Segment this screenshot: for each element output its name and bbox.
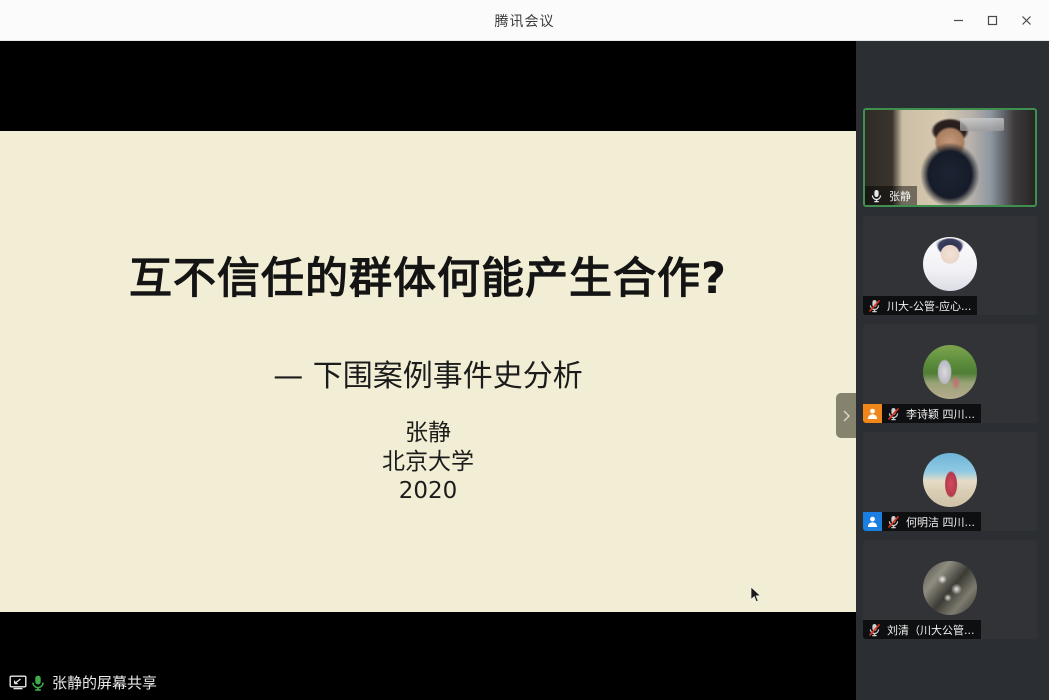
participant-tile-zhang-jing[interactable]: 张静 [863,108,1037,207]
maximize-icon [986,14,999,27]
close-button[interactable] [1009,6,1043,36]
avatar [923,237,977,291]
chevron-right-icon [841,409,851,423]
avatar [923,453,977,507]
close-icon [1020,14,1033,27]
person-badge-icon [863,512,882,531]
tencent-meeting-window: 腾讯会议 互不信任的群体何能产生合作? — [0,0,1049,700]
slide-year: 2020 [0,477,856,506]
participant-tile-chuanda-gongguan[interactable]: 川大-公管-应心... [863,216,1037,315]
window-title: 腾讯会议 [0,11,1049,31]
slide-subtitle: — 下围案例事件史分析 [0,351,856,395]
slide-author: 张静 [0,419,856,448]
window-controls [941,0,1043,41]
slide-affiliation: 北京大学 [0,448,856,477]
person-badge-icon [863,404,882,423]
participant-label: 刘清（川大公管... [863,620,981,639]
participant-label: 李诗颖 四川... [863,404,981,423]
screen-share-icon [8,673,28,693]
sidebar-collapse-handle[interactable] [836,393,856,438]
participant-label: 何明洁 四川... [863,512,981,531]
participant-name: 刘清（川大公管... [887,622,975,638]
participant-tile-he-mingjie[interactable]: 何明洁 四川... [863,432,1037,531]
mic-muted-icon [884,512,903,531]
maximize-button[interactable] [975,6,1009,36]
participant-name: 李诗颖 四川... [906,406,975,422]
participant-name: 何明洁 四川... [906,514,975,530]
participant-label: 川大-公管-应心... [863,296,977,315]
minimize-button[interactable] [941,6,975,36]
title-bar: 腾讯会议 [0,0,1049,41]
avatar [923,345,977,399]
slide-byline: 张静 北京大学 2020 [0,419,856,506]
screen-share-status-bar: 张静的屏幕共享 [0,665,856,700]
mouse-pointer-icon [750,586,762,604]
mic-muted-icon [865,296,884,315]
shared-screen-stage[interactable]: 互不信任的群体何能产生合作? — 下围案例事件史分析 张静 北京大学 2020 [0,41,856,700]
shared-slide: 互不信任的群体何能产生合作? — 下围案例事件史分析 张静 北京大学 2020 [0,131,856,612]
screen-share-label: 张静的屏幕共享 [52,672,157,693]
participant-tile-liu-qing[interactable]: 刘清（川大公管... [863,540,1037,639]
participant-name: 川大-公管-应心... [887,298,971,314]
participant-name: 张静 [889,188,911,204]
participant-sidebar[interactable]: 张静 [856,41,1049,700]
minimize-icon [952,14,965,27]
mic-muted-icon [884,404,903,423]
mic-on-icon [867,186,886,205]
participant-tile-li-shiying[interactable]: 李诗颖 四川... [863,324,1037,423]
slide-title: 互不信任的群体何能产生合作? [0,244,856,306]
participant-label: 张静 [865,186,917,205]
mic-muted-icon [865,620,884,639]
avatar [923,561,977,615]
mic-on-icon [28,673,48,693]
